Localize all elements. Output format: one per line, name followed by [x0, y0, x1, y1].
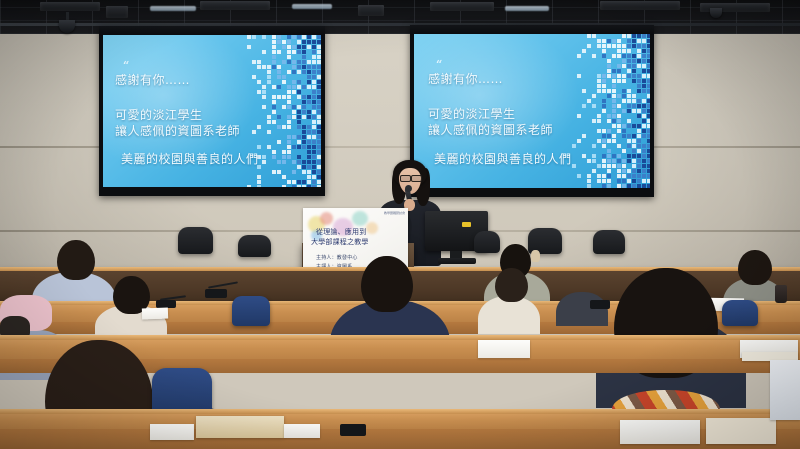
lecture-hall-photo: “ 感謝有你…… 可愛的淡江學生 讓人感佩的資圖系老師 美麗的校園與善良的人們 … [0, 0, 800, 449]
chair-front-row[interactable] [593, 230, 625, 254]
handout-paper [706, 418, 776, 444]
coffee-cup [775, 285, 787, 303]
slide-line-4: 美麗的校園與善良的人們 [121, 150, 259, 167]
chair-front-row[interactable] [238, 235, 271, 257]
slide-mosaic-decoration [572, 34, 650, 188]
monitor-base [438, 258, 476, 264]
audience-head [361, 256, 413, 312]
glasses-icon [400, 175, 411, 182]
handout-paper [150, 424, 194, 440]
booklet [196, 416, 284, 438]
slide-line-3: 讓人感佩的資圖系老師 [428, 121, 553, 138]
ceiling-panel [600, 1, 680, 10]
chair-front-row[interactable] [178, 227, 213, 254]
ceiling-light [505, 6, 549, 11]
chair-row-2[interactable] [232, 296, 270, 326]
banner-host-line: 主持人：教發中心 [316, 254, 358, 261]
handout-paper [142, 308, 168, 320]
banner-decoration [352, 211, 368, 226]
gooseneck-microphone-base [340, 424, 366, 436]
chair-front-row[interactable] [474, 231, 500, 253]
ceiling-panel [40, 2, 100, 11]
ceiling-panel [430, 2, 494, 11]
audience-head [57, 240, 95, 280]
slide-line-1: 感謝有你…… [115, 71, 190, 88]
handout-paper [620, 420, 700, 444]
banner-title-line-2: 大學部課程之教學 [311, 237, 369, 247]
handout-paper [284, 424, 320, 438]
chair-row-2[interactable] [722, 300, 758, 326]
right-projection-screen: “ 感謝有你…… 可愛的淡江學生 讓人感佩的資圖系老師 美麗的校園與善良的人們 [410, 25, 654, 197]
banner-decoration [366, 222, 378, 234]
slide-line-2: 可愛的淡江學生 [428, 105, 516, 122]
audience-head [495, 268, 528, 302]
ceiling-light [150, 6, 196, 11]
glasses-icon [411, 175, 422, 182]
slide-content-left: “ 感謝有你…… 可愛的淡江學生 讓人感佩的資圖系老師 美麗的校園與善良的人們 [103, 35, 321, 187]
ceiling-light [292, 4, 332, 9]
banner-corner-note: 教學實踐研討會 [384, 211, 405, 215]
slide-line-1: 感謝有你…… [428, 70, 503, 87]
left-projection-screen: “ 感謝有你…… 可愛的淡江學生 讓人感佩的資圖系老師 美麗的校園與善良的人們 [99, 26, 325, 196]
desk-edge-row-4 [0, 409, 800, 414]
slide-content-right: “ 感謝有你…… 可愛的淡江學生 讓人感佩的資圖系老師 美麗的校園與善良的人們 [414, 34, 650, 188]
desk-sign [770, 360, 800, 420]
ceiling-projector [106, 6, 128, 18]
ceiling-speaker [358, 5, 384, 16]
banner-title-line-1: 從理論、應用到 [316, 227, 366, 237]
audience-body [556, 292, 608, 326]
gooseneck-microphone-base [205, 289, 227, 298]
slide-line-4: 美麗的校園與善良的人們 [434, 150, 572, 167]
ceiling-panel [200, 1, 270, 10]
banner-decoration [320, 212, 333, 225]
monitor-sticker [462, 222, 471, 227]
handout-paper [478, 340, 530, 358]
slide-line-2: 可愛的淡江學生 [115, 106, 203, 123]
desk-edge-row-3 [0, 335, 800, 340]
audience-hair-clip [531, 250, 540, 262]
audience-head [738, 250, 772, 285]
slide-line-3: 讓人感佩的資圖系老師 [115, 122, 240, 139]
gooseneck-microphone-base [590, 300, 610, 309]
microphone-head-icon [405, 185, 412, 192]
